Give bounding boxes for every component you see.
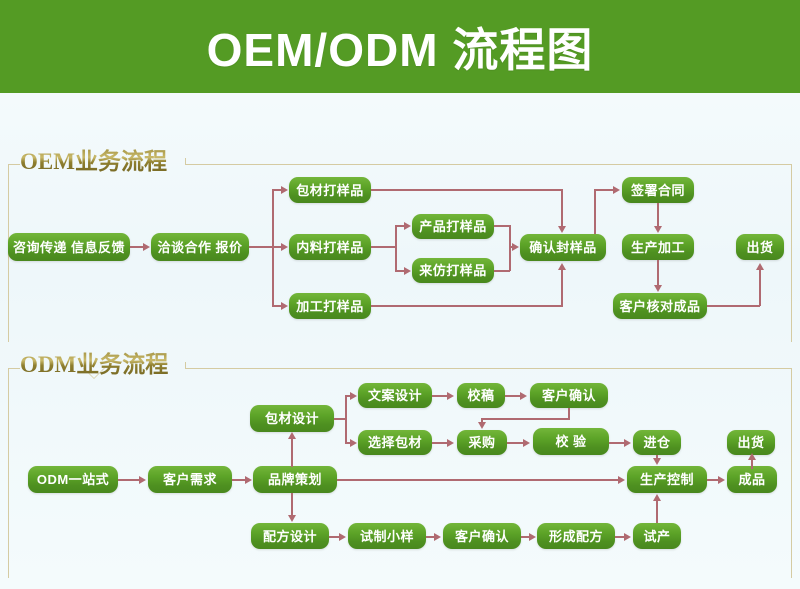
conn-odm-3-15: [291, 493, 293, 515]
node-odm-shipment[interactable]: 出货: [727, 430, 775, 455]
conn-oem-merge-bus: [509, 225, 511, 271]
oem-frame-top-right: [185, 164, 792, 165]
arrow-odm-6-7: [520, 392, 527, 400]
page-header: OEM/ODM 流程图: [0, 0, 800, 93]
arrow-oem-split-6: [404, 222, 411, 230]
arrow-odm-split-8: [350, 439, 357, 447]
node-odm-purchasing[interactable]: 采购: [457, 430, 507, 455]
oem-frame-title-tick: [185, 158, 186, 165]
arrow-oem-5-8: [558, 263, 566, 270]
node-oem-product-sample[interactable]: 产品打样品: [412, 214, 494, 239]
arrow-odm-split-5: [350, 392, 357, 400]
arrow-odm-1-2: [139, 476, 146, 484]
node-odm-trial-production[interactable]: 试产: [633, 523, 681, 549]
arrow-oem-merge-8: [512, 243, 519, 251]
conn-odm-split-bus: [345, 395, 347, 443]
node-oem-material-sample[interactable]: 内料打样品: [289, 234, 371, 260]
arrow-odm-8-9: [447, 439, 454, 447]
node-odm-select-packaging[interactable]: 选择包材: [358, 430, 432, 455]
arrow-oem-9-10: [654, 226, 662, 233]
conn-oem-5-8-rise: [561, 270, 563, 306]
arrow-oem-bus-4: [281, 243, 288, 251]
conn-odm-8-9: [432, 442, 448, 444]
node-odm-one-stop[interactable]: ODM一站式: [28, 466, 118, 493]
conn-odm-3-13: [337, 479, 619, 481]
arrow-odm-14-12: [748, 453, 756, 460]
conn-oem-3-8-drop: [561, 189, 563, 227]
conn-odm-19-13: [656, 500, 658, 523]
arrow-odm-3-15: [288, 515, 296, 522]
node-oem-confirm-seal-sample[interactable]: 确认封样品: [520, 234, 606, 261]
node-oem-processing-sample[interactable]: 加工打样品: [289, 293, 371, 319]
node-odm-proofreading[interactable]: 校稿: [457, 383, 505, 408]
oem-section-title: OEM业务流程: [20, 142, 167, 176]
odm-frame-title-tick: [185, 362, 186, 369]
node-oem-shipment[interactable]: 出货: [736, 234, 784, 260]
arrow-odm-19-13: [653, 494, 661, 501]
node-odm-inspection[interactable]: 校 验: [533, 428, 609, 455]
node-odm-warehousing[interactable]: 进仓: [633, 430, 681, 455]
odm-frame-top-right: [185, 368, 792, 369]
conn-odm-14-12: [751, 459, 753, 469]
conn-oem-8-9: [594, 189, 614, 191]
conn-oem-fan-bus: [272, 190, 274, 306]
page-title: OEM/ODM 流程图: [207, 14, 594, 80]
odm-frame-left-stub: [8, 368, 20, 369]
conn-oem-7-merge: [494, 270, 510, 272]
arrow-odm-3-4: [288, 432, 296, 439]
arrow-odm-3-13: [618, 476, 625, 484]
node-odm-copywriting-design[interactable]: 文案设计: [358, 383, 432, 408]
arrow-odm-18-19: [624, 533, 631, 541]
arrow-oem-11-12: [756, 263, 764, 270]
arrow-odm-5-6: [447, 392, 454, 400]
node-odm-production-control[interactable]: 生产控制: [627, 466, 707, 493]
conn-odm-1-2: [118, 479, 140, 481]
oem-frame-bottom-left-stub: [8, 164, 20, 165]
conn-oem-11-12-rise: [759, 270, 761, 306]
node-odm-packaging-design[interactable]: 包材设计: [250, 405, 334, 432]
node-oem-packaging-sample[interactable]: 包材打样品: [289, 177, 371, 203]
odm-section-title: ODM业务流程: [20, 345, 168, 379]
node-odm-brand-planning[interactable]: 品牌策划: [253, 466, 337, 493]
conn-odm-6-7: [505, 395, 521, 397]
arrow-odm-15-16: [339, 533, 346, 541]
node-odm-customer-demand[interactable]: 客户需求: [148, 466, 232, 493]
odm-frame-left: [8, 368, 9, 578]
conn-oem-9-10: [657, 203, 659, 226]
conn-oem-split-bus: [395, 225, 397, 272]
arrow-odm-2-3: [245, 476, 252, 484]
node-odm-trial-sample[interactable]: 试制小样: [348, 523, 426, 549]
conn-oem-10-11: [657, 260, 659, 285]
conn-oem-1-2: [130, 246, 144, 248]
node-oem-imitation-sample[interactable]: 来仿打样品: [412, 258, 494, 283]
arrow-oem-3-8: [558, 226, 566, 233]
arrow-oem-10-11: [654, 285, 662, 292]
node-oem-negotiate-quote[interactable]: 洽谈合作 报价: [151, 233, 249, 261]
arrow-oem-split-7: [404, 267, 411, 275]
arrow-odm-9-10: [523, 439, 530, 447]
flowchart-page: OEM/ODM 流程图 OEM业务流程 咨询传递 信息反馈 洽谈合作 报价 包材…: [0, 0, 800, 589]
conn-oem-3-8: [371, 189, 563, 191]
conn-odm-10-11: [609, 442, 624, 444]
arrow-oem-bus-5: [281, 302, 288, 310]
arrow-odm-17-18: [529, 533, 536, 541]
arrow-odm-13-14: [718, 476, 725, 484]
conn-oem-6-merge: [494, 225, 510, 227]
arrow-odm-11-13: [653, 458, 661, 465]
arrow-odm-16-17: [434, 533, 441, 541]
arrow-oem-bus-3: [281, 186, 288, 194]
odm-frame-right: [791, 368, 792, 578]
arrow-oem-8-9: [613, 186, 620, 194]
arrow-odm-10-11: [624, 439, 631, 447]
node-odm-form-formula[interactable]: 形成配方: [537, 523, 615, 549]
node-oem-production[interactable]: 生产加工: [622, 234, 694, 260]
conn-oem-4-split: [371, 246, 396, 248]
conn-oem-8-9-rise: [594, 190, 596, 234]
arrow-oem-1-2: [143, 243, 150, 251]
node-odm-formula-design[interactable]: 配方设计: [251, 523, 329, 549]
conn-odm-2-3: [232, 479, 246, 481]
conn-odm-5-6: [432, 395, 448, 397]
conn-oem-11-12: [707, 305, 760, 307]
node-oem-sign-contract[interactable]: 签署合同: [622, 177, 694, 203]
conn-odm-3-4: [291, 439, 293, 467]
conn-oem-2-bus: [249, 246, 273, 248]
node-oem-consult-feedback[interactable]: 咨询传递 信息反馈: [8, 233, 130, 261]
oem-frame-right: [791, 164, 792, 342]
node-odm-customer-confirm-bottom[interactable]: 客户确认: [443, 523, 521, 549]
conn-odm-9-10: [507, 442, 524, 444]
node-odm-finished-goods[interactable]: 成品: [727, 466, 777, 493]
conn-odm-7-9-left: [481, 418, 570, 420]
node-oem-customer-check-goods[interactable]: 客户核对成品: [613, 293, 707, 319]
arrow-odm-7-9: [478, 422, 486, 429]
conn-oem-5-8: [371, 305, 563, 307]
node-odm-customer-confirm-top[interactable]: 客户确认: [530, 383, 608, 408]
